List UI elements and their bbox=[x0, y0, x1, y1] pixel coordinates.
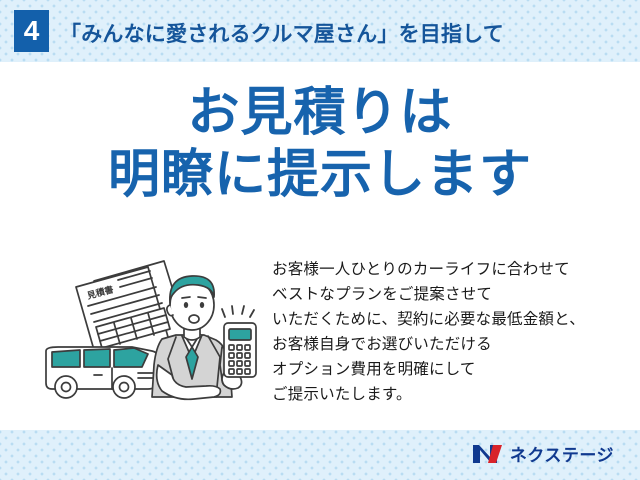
nextage-n-logo-icon bbox=[473, 443, 503, 465]
step-number-badge: 4 bbox=[14, 10, 49, 52]
body-copy: お客様一人ひとりのカーライフに合わせて ベストなプランをご提案させて いただくた… bbox=[272, 257, 632, 407]
salesman-illustration: 見積書 bbox=[36, 247, 268, 415]
banner-footer: ネクステージ bbox=[0, 430, 640, 480]
body-copy-line: ベストなプランをご提案させて bbox=[272, 282, 632, 307]
promo-banner: 4 「みんなに愛されるクルマ屋さん」を目指して お見積りは 明瞭に提示します bbox=[0, 0, 640, 480]
headline: お見積りは 明瞭に提示します bbox=[0, 82, 640, 206]
lower-row: 見積書 bbox=[0, 247, 640, 422]
brand-name: ネクステージ bbox=[510, 441, 614, 466]
sparkle-icon bbox=[222, 306, 254, 317]
brand-logo: ネクステージ bbox=[473, 441, 614, 466]
body-copy-line: オプション費用を明確にして bbox=[272, 357, 632, 382]
van-illustration bbox=[46, 347, 160, 398]
body-copy-line: ご提示いたします。 bbox=[272, 382, 632, 407]
body-copy-line: お客様一人ひとりのカーライフに合わせて bbox=[272, 257, 632, 282]
illustration-svg: 見積書 bbox=[36, 247, 268, 415]
calculator-illustration bbox=[224, 323, 256, 377]
banner-header: 4 「みんなに愛されるクルマ屋さん」を目指して bbox=[0, 0, 640, 62]
content-card: お見積りは 明瞭に提示します 見積 bbox=[0, 62, 640, 430]
headline-line-1: お見積りは bbox=[0, 82, 640, 144]
body-copy-line: お客様自身でお選びいただける bbox=[272, 332, 632, 357]
body-copy-line: いただくために、契約に必要な最低金額と、 bbox=[272, 307, 632, 332]
header-title: 「みんなに愛されるクルマ屋さん」を目指して bbox=[60, 18, 504, 48]
headline-line-2: 明瞭に提示します bbox=[0, 144, 640, 206]
